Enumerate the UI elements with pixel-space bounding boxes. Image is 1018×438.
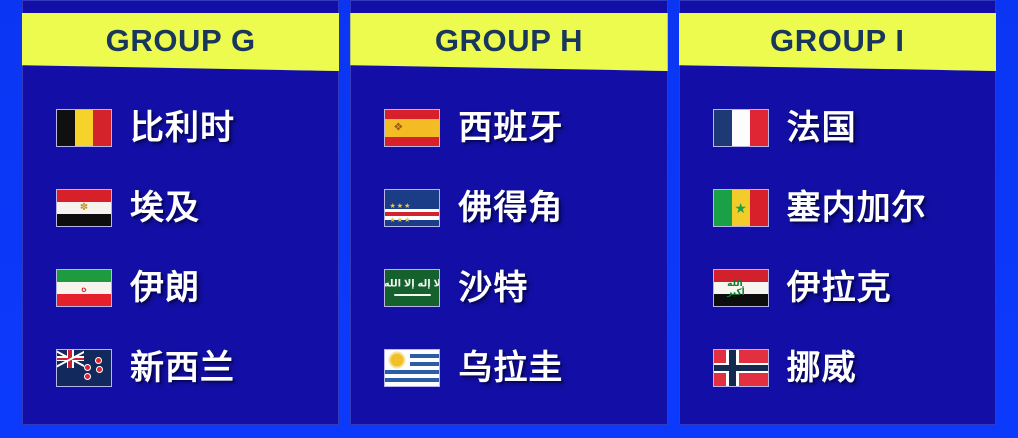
group-header-h: GROUP H [350,0,667,72]
saudi-arabia-flag-icon: لا إله إلا الله [384,269,440,307]
cape-verde-flag-icon: ★★★ ★★★ [384,189,440,227]
team-list-i: 法国 ★ 塞内加尔 الله أكبر 伊拉克 [679,72,996,425]
france-flag-icon [713,109,769,147]
team-row[interactable]: 法国 [679,88,996,168]
saudi-shahada-script: لا إله إلا الله [384,279,440,290]
team-name: 西班牙 [458,111,563,145]
group-header-g: GROUP G [22,0,339,72]
belgium-flag-icon [56,109,112,147]
team-name: 法国 [787,111,857,145]
cape-verde-stars-bottom: ★★★ [390,216,412,224]
spain-flag-icon: ❖ [384,109,440,147]
team-list-h: ❖ 西班牙 ★★★ ★★★ 佛得角 لا إل [350,72,667,425]
team-name: 佛得角 [458,191,563,225]
uruguay-flag-icon [384,349,440,387]
uruguay-sun-of-may [391,353,404,366]
team-name: 挪威 [787,351,857,385]
team-name: 新西兰 [130,351,235,385]
team-row[interactable]: ه 伊朗 [22,248,339,328]
team-row[interactable]: 新西兰 [22,328,339,408]
team-list-g: 比利时 ✽ 埃及 ه 伊朗 [22,72,339,425]
saudi-sword [394,294,431,296]
team-row[interactable]: ★★★ ★★★ 佛得角 [350,168,667,248]
group-title-g: GROUP G [22,13,339,67]
team-name: 沙特 [458,271,528,305]
group-draw-board: GROUP G 比利时 ✽ 埃及 [0,0,1018,438]
team-row[interactable]: الله أكبر 伊拉克 [679,248,996,328]
union-jack-canton [57,350,84,368]
team-name: 伊朗 [130,271,200,305]
group-card-i[interactable]: GROUP I 法国 ★ 塞内加尔 [679,0,996,425]
team-row[interactable]: 比利时 [22,88,339,168]
team-name: 伊拉克 [787,271,892,305]
egypt-flag-icon: ✽ [56,189,112,227]
team-name: 埃及 [130,191,200,225]
new-zealand-flag-icon [56,349,112,387]
norway-flag-icon [713,349,769,387]
senegal-flag-icon: ★ [713,189,769,227]
group-card-g[interactable]: GROUP G 比利时 ✽ 埃及 [22,0,339,425]
team-name: 乌拉圭 [458,351,563,385]
team-row[interactable]: 挪威 [679,328,996,408]
team-row[interactable]: لا إله إلا الله 沙特 [350,248,667,328]
group-card-h[interactable]: GROUP H ❖ 西班牙 ★★★ ★★★ [350,0,667,425]
groups-container: GROUP G 比利时 ✽ 埃及 [0,0,1018,438]
iraq-flag-icon: الله أكبر [713,269,769,307]
team-name: 比利时 [130,111,235,145]
team-name: 塞内加尔 [787,191,927,225]
team-row[interactable]: ❖ 西班牙 [350,88,667,168]
group-title-h: GROUP H [350,13,667,67]
group-title-i: GROUP I [679,13,996,67]
team-row[interactable]: 乌拉圭 [350,328,667,408]
team-row[interactable]: ✽ 埃及 [22,168,339,248]
group-header-i: GROUP I [679,0,996,72]
iran-flag-icon: ه [56,269,112,307]
team-row[interactable]: ★ 塞内加尔 [679,168,996,248]
